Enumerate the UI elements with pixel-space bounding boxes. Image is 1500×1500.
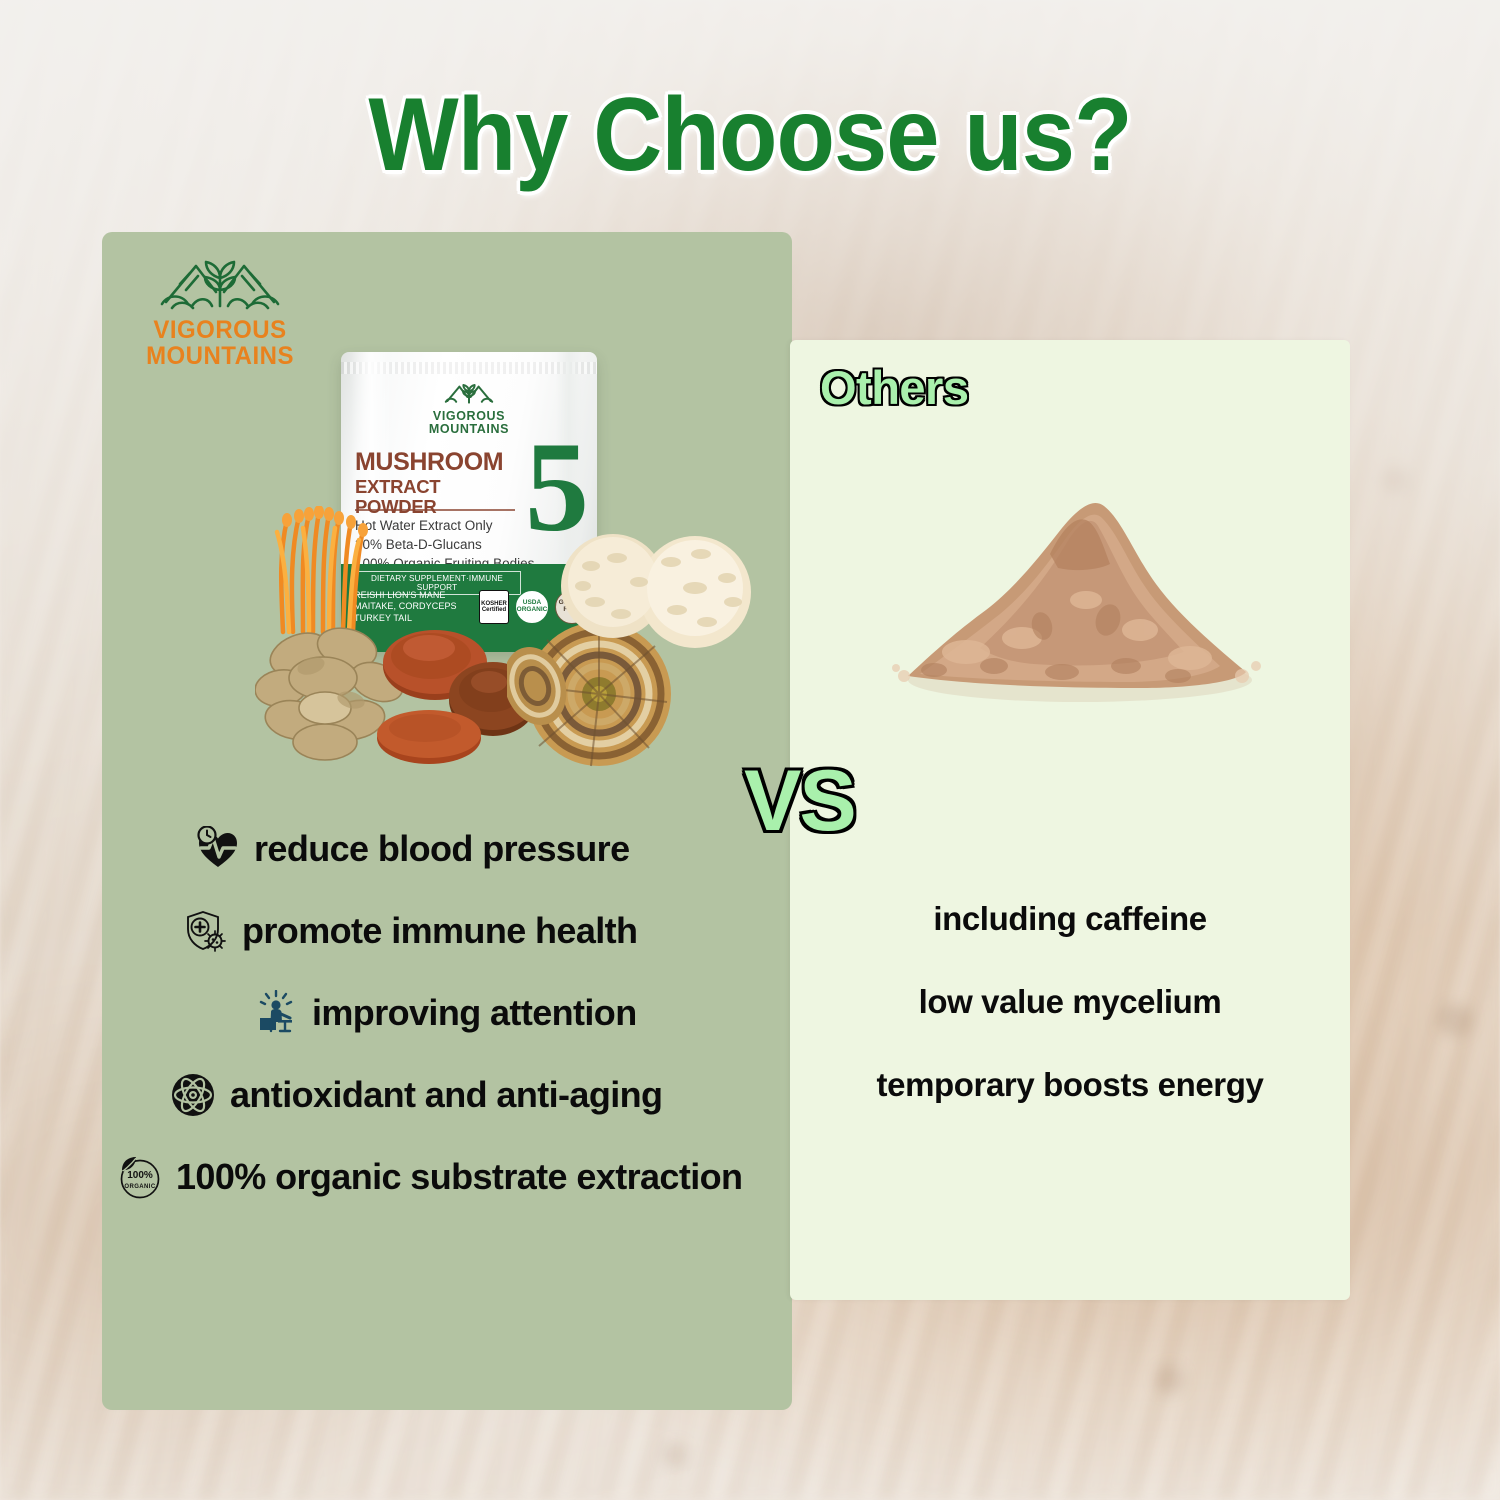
page-title: Why Choose us? bbox=[60, 76, 1440, 195]
person-desk-focus-icon bbox=[252, 990, 298, 1036]
benefit-label: antioxidant and anti-aging bbox=[230, 1074, 662, 1116]
benefit-label: reduce blood pressure bbox=[254, 828, 630, 870]
others-point: including caffeine bbox=[790, 900, 1350, 938]
benefit-label: promote immune health bbox=[242, 910, 637, 952]
organic-100-leaf-icon: 100% ORGANIC bbox=[116, 1154, 162, 1200]
benefit-item: 100% ORGANIC 100% organic substrate extr… bbox=[102, 1154, 792, 1200]
benefit-item: antioxidant and anti-aging bbox=[102, 1072, 792, 1118]
benefit-item: improving attention bbox=[102, 990, 792, 1036]
svg-text:100%: 100% bbox=[127, 1170, 153, 1181]
mountain-leaf-icon bbox=[140, 256, 300, 318]
mushroom-composition-image bbox=[255, 500, 755, 770]
brand-name-line2: MOUNTAINS bbox=[143, 344, 297, 370]
benefit-label: improving attention bbox=[312, 992, 637, 1034]
tan-powder-pile-image bbox=[890, 480, 1270, 710]
others-points-list: including caffeine low value mycelium te… bbox=[790, 900, 1350, 1104]
package-title-line1: MUSHROOM bbox=[355, 450, 515, 475]
brand-logo: VIGOROUS MOUNTAINS bbox=[140, 256, 300, 369]
brand-name-line1: VIGOROUS bbox=[143, 318, 297, 344]
heart-pulse-clock-icon bbox=[194, 826, 240, 872]
mountain-leaf-icon bbox=[341, 382, 597, 408]
atom-icon bbox=[170, 1072, 216, 1118]
others-point: temporary boosts energy bbox=[790, 1066, 1350, 1104]
benefit-item: promote immune health bbox=[102, 908, 792, 954]
benefit-label: 100% organic substrate extraction bbox=[176, 1156, 742, 1198]
others-point: low value mycelium bbox=[790, 983, 1350, 1021]
benefits-list: reduce blood pressure bbox=[102, 826, 792, 1200]
svg-text:ORGANIC: ORGANIC bbox=[124, 1184, 155, 1190]
infographic-canvas: Why Choose us? VIGOROUS bbox=[0, 0, 1500, 1500]
benefit-item: reduce blood pressure bbox=[102, 826, 792, 872]
lions-mane-mushroom-icon bbox=[555, 530, 755, 658]
others-heading: Others bbox=[820, 360, 969, 415]
shield-virus-icon bbox=[182, 908, 228, 954]
